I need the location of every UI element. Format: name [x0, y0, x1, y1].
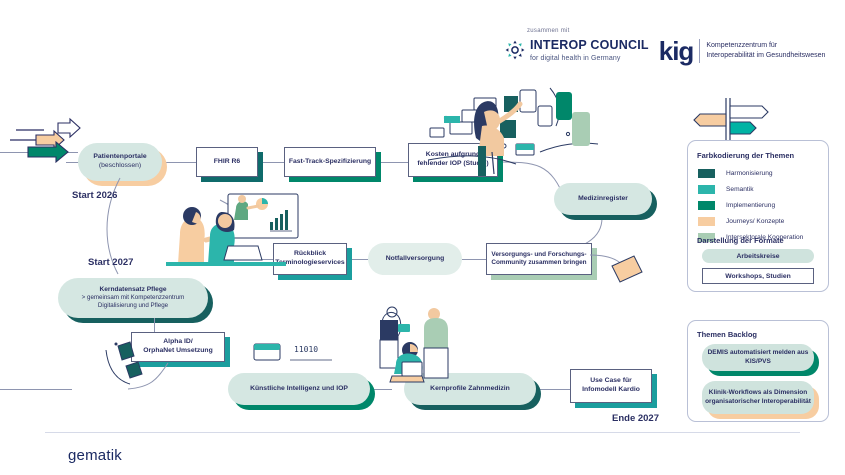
node-versorgungs-community[interactable]: Versorgungs- und Forschungs- Community z…	[486, 243, 592, 275]
footer-divider	[45, 432, 800, 433]
milestone-start-2026: Start 2026	[72, 190, 117, 201]
connector	[154, 318, 155, 332]
node-use-case-kardio-line2: Infomodell Kardio	[582, 386, 640, 395]
node-kernprofile-zahnmedizin[interactable]: Kernprofile Zahnmedizin	[404, 373, 536, 405]
legend-item-implementierung: Implementierung	[698, 197, 803, 213]
legend-item-harmonisierung: Harmonisierung	[698, 165, 803, 181]
connector	[462, 259, 486, 260]
backlog-item-klinik-workflows[interactable]: Klinik-Workflows als Dimension organisat…	[702, 381, 814, 414]
timeline-start-line	[0, 152, 78, 153]
legend-item-label: Journeys/ Konzepte	[726, 218, 784, 225]
node-alpha-id-line1: Alpha ID/	[143, 338, 213, 347]
legend-item-journeys-konzepte: Journeys/ Konzepte	[698, 213, 803, 229]
node-notfallversorgung-label: Notfallversorgung	[386, 255, 445, 264]
kig-sub-line1: Kompetenzzentrum für	[706, 41, 825, 50]
infographic-root: zusammen mit	[0, 0, 845, 475]
signpost-icon	[694, 98, 780, 144]
backlog-item-demis[interactable]: DEMIS automatisiert melden aus KIS/PVS	[702, 344, 814, 371]
legend-format-arbeitskreise: Arbeitskreise	[702, 249, 814, 263]
backlog-panel: Themen Backlog DEMIS automatisiert melde…	[687, 320, 829, 422]
node-use-case-kardio[interactable]: Use Case für Infomodell Kardio	[570, 369, 652, 403]
connector	[160, 162, 196, 163]
legend-item-semantik: Semantik	[698, 181, 803, 197]
node-kerndatensatz-pflege-line1: Kerndatensatz Pflege	[82, 286, 185, 295]
connector	[370, 389, 392, 390]
node-versorgungs-community-line1: Versorgungs- und Forschungs-	[491, 251, 586, 259]
node-kosten-iop-line2: fehlender IOP (Studie)	[417, 160, 488, 169]
node-kernprofile-zahnmedizin-label: Kernprofile Zahnmedizin	[430, 385, 510, 394]
zusammen-mit-label: zusammen mit	[527, 28, 649, 34]
interop-council-name: INTEROP COUNCIL	[530, 38, 649, 52]
interop-gear-icon	[505, 40, 525, 60]
node-ki-iop[interactable]: Künstliche Intelligenz und IOP	[228, 373, 370, 405]
connector	[258, 162, 284, 163]
node-patientenportale[interactable]: Patientenportale (beschlossen)	[78, 143, 162, 181]
connector	[346, 259, 368, 260]
legend-items: Harmonisierung Semantik Implementierung …	[698, 165, 803, 245]
kig-logo: kig Kompetenzzentrum für Interoperabilit…	[659, 39, 826, 63]
legend-swatch-icon	[698, 217, 715, 226]
legend-formats-title: Darstellung der Formate	[697, 236, 784, 245]
milestone-start-2027: Start 2027	[88, 257, 133, 268]
node-fast-track[interactable]: Fast-Track-Spezifizierung	[284, 147, 376, 177]
node-rueckblick[interactable]: Rückblick Terminologieservices	[273, 243, 347, 275]
legend-title: Farbkodierung der Themen	[697, 151, 794, 160]
legend-item-label: Semantik	[726, 186, 754, 193]
node-kosten-iop-line1: Kosten aufgrund	[417, 151, 488, 160]
decoration-binary-card: 11010	[254, 336, 354, 370]
node-medizinregister-label: Medizinregister	[578, 195, 628, 204]
kig-wordmark: kig	[659, 40, 694, 62]
legend-item-label: Harmonisierung	[726, 170, 773, 177]
interop-council-logo: zusammen mit	[505, 28, 649, 64]
node-use-case-kardio-line1: Use Case für	[582, 377, 640, 386]
node-rueckblick-line2: Terminologieservices	[275, 259, 344, 268]
node-ki-iop-label: Künstliche Intelligenz und IOP	[250, 385, 348, 394]
legend-format-workshops: Workshops, Studien	[702, 268, 814, 284]
kig-divider	[699, 39, 700, 63]
node-patientenportale-line1: Patientenportale	[93, 153, 146, 162]
legend-swatch-icon	[698, 201, 715, 210]
node-medizinregister[interactable]: Medizinregister	[554, 183, 652, 215]
legend-item-label: Implementierung	[726, 202, 775, 209]
node-fhir-r6-label: FHIR R6	[214, 158, 240, 167]
node-kerndatensatz-pflege-line3: Digitalisierung und Pflege	[82, 302, 185, 310]
node-versorgungs-community-line2: Community zusammen bringen	[491, 259, 586, 267]
interop-council-tagline: for digital health in Germany	[530, 55, 649, 64]
svg-text:11010: 11010	[294, 345, 318, 354]
connector	[255, 259, 273, 260]
node-alpha-id-line2: OrphaNet Umsetzung	[143, 347, 213, 356]
node-kosten-iop[interactable]: Kosten aufgrund fehlender IOP (Studie)	[408, 143, 498, 177]
connector	[376, 162, 408, 163]
node-fhir-r6[interactable]: FHIR R6	[196, 147, 258, 177]
connector-curve	[590, 245, 650, 290]
legend-swatch-icon	[698, 185, 715, 194]
legend-swatch-icon	[698, 169, 715, 178]
node-alpha-id[interactable]: Alpha ID/ OrphaNet Umsetzung	[131, 332, 225, 362]
node-kerndatensatz-pflege[interactable]: Kerndatensatz Pflege > gemeinsam mit Kom…	[58, 278, 208, 318]
node-fast-track-label: Fast-Track-Spezifizierung	[289, 158, 371, 167]
header-logos: zusammen mit	[505, 28, 825, 64]
legend-panel: Farbkodierung der Themen Harmonisierung …	[687, 140, 829, 292]
kig-sub-line2: Interoperabilität im Gesundheitswesen	[706, 51, 825, 60]
node-kerndatensatz-pflege-line2: > gemeinsam mit Kompetenzzentrum	[82, 294, 185, 302]
connector	[0, 389, 72, 390]
decoration-folded-card	[608, 252, 648, 292]
milestone-ende-2027: Ende 2027	[612, 413, 659, 424]
gematik-logo: gematik	[68, 447, 122, 464]
backlog-title: Themen Backlog	[697, 330, 757, 339]
node-notfallversorgung[interactable]: Notfallversorgung	[368, 243, 462, 275]
node-rueckblick-line1: Rückblick	[275, 250, 344, 259]
connector	[536, 389, 570, 390]
node-patientenportale-line2: (beschlossen)	[93, 162, 146, 171]
